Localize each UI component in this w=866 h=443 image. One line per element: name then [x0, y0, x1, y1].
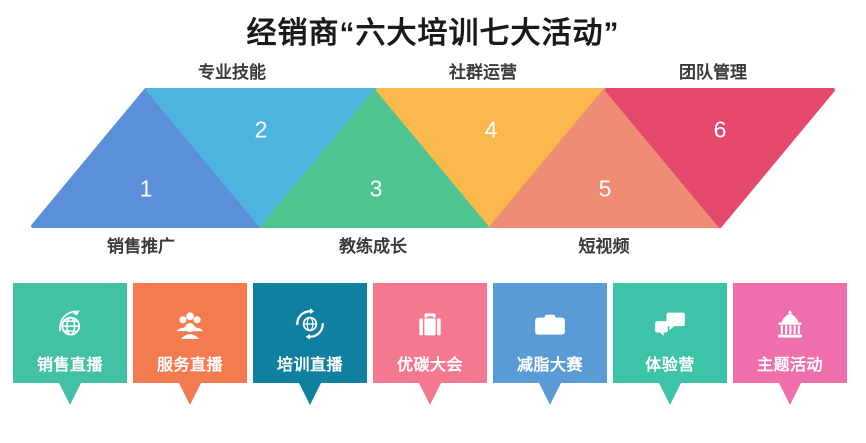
activity-card-label-5: 减脂大赛 — [493, 351, 607, 375]
globe-refresh-icon — [293, 307, 327, 341]
activity-card-background-2 — [133, 283, 247, 405]
activity-card-6[interactable]: 体验营 — [613, 283, 727, 405]
activity-card-label-3: 培训直播 — [253, 351, 367, 375]
stage-label-bottom-2: 教练成长 — [339, 232, 407, 257]
activity-card-row: 销售直播服务直播培训直播优碳大会减脂大赛体验营主题活动 — [0, 283, 866, 415]
triangle-number-6: 6 — [714, 119, 727, 142]
activity-card-background-1 — [13, 283, 127, 405]
activity-card-label-1: 销售直播 — [13, 351, 127, 375]
building-icon — [773, 307, 807, 341]
activity-card-background-7 — [733, 283, 847, 405]
camera-icon — [533, 307, 567, 341]
activity-card-2[interactable]: 服务直播 — [133, 283, 247, 405]
page-title: 经销商“六大培训七大活动” — [0, 8, 866, 52]
top-stage-label-row: 专业技能社群运营团队管理 — [0, 58, 866, 84]
activity-card-3[interactable]: 培训直播 — [253, 283, 367, 405]
activity-card-label-6: 体验营 — [613, 351, 727, 375]
stage-label-top-2: 社群运营 — [449, 58, 517, 83]
triangle-band: 123456 — [0, 88, 866, 228]
activity-card-background-5 — [493, 283, 607, 405]
stage-label-top-3: 团队管理 — [679, 58, 747, 83]
activity-card-4[interactable]: 优碳大会 — [373, 283, 487, 405]
stage-label-top-1: 专业技能 — [198, 58, 266, 83]
activity-card-7[interactable]: 主题活动 — [733, 283, 847, 405]
stage-label-bottom-1: 销售推广 — [107, 232, 175, 257]
chat-bubbles-icon — [653, 307, 687, 341]
stage-label-bottom-3: 短视频 — [579, 232, 630, 257]
activity-card-background-3 — [253, 283, 367, 405]
bottom-stage-label-row: 销售推广教练成长短视频 — [0, 232, 866, 258]
globe-plane-icon — [53, 307, 87, 341]
people-group-icon — [173, 307, 207, 341]
activity-card-background-6 — [613, 283, 727, 405]
triangle-shape-6 — [605, 88, 835, 228]
activity-card-5[interactable]: 减脂大赛 — [493, 283, 607, 405]
activity-card-label-7: 主题活动 — [733, 351, 847, 375]
activity-card-background-4 — [373, 283, 487, 405]
briefcase-icon — [413, 307, 447, 341]
activity-card-label-2: 服务直播 — [133, 351, 247, 375]
activity-card-label-4: 优碳大会 — [373, 351, 487, 375]
activity-card-1[interactable]: 销售直播 — [13, 283, 127, 405]
triangle-step-6[interactable]: 6 — [605, 88, 835, 228]
